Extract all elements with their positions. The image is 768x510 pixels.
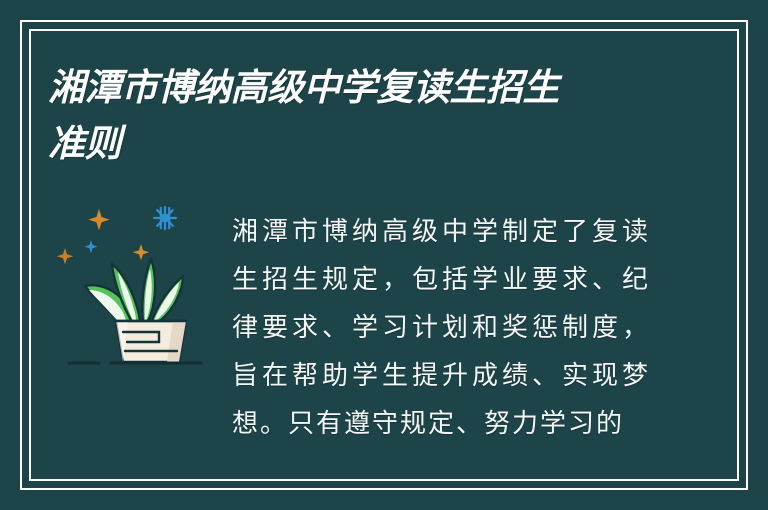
sparkle-orange-icon-1 xyxy=(88,209,109,230)
sparkle-blue-icon-1 xyxy=(84,240,97,253)
sparkle-orange-icon-2 xyxy=(133,244,149,260)
plant-pot xyxy=(116,321,186,362)
body-paragraph: 湘潭市博纳高级中学制定了复读生招生规定，包括学业要求、纪律要求、学习计划和奖惩制… xyxy=(232,208,650,448)
potted-plant-illustration xyxy=(55,190,215,370)
poster-card: 湘潭市博纳高级中学复读生招生 准则 xyxy=(0,0,768,510)
sparkle-orange-icon-3 xyxy=(57,248,73,264)
page-title: 湘潭市博纳高级中学复读生招生 准则 xyxy=(48,60,668,172)
starburst-blue-icon xyxy=(154,207,176,229)
plant-leaves xyxy=(85,259,183,323)
page-title-line-1: 湘潭市博纳高级中学复读生招生 xyxy=(48,60,668,116)
page-title-line-2: 准则 xyxy=(48,116,668,172)
